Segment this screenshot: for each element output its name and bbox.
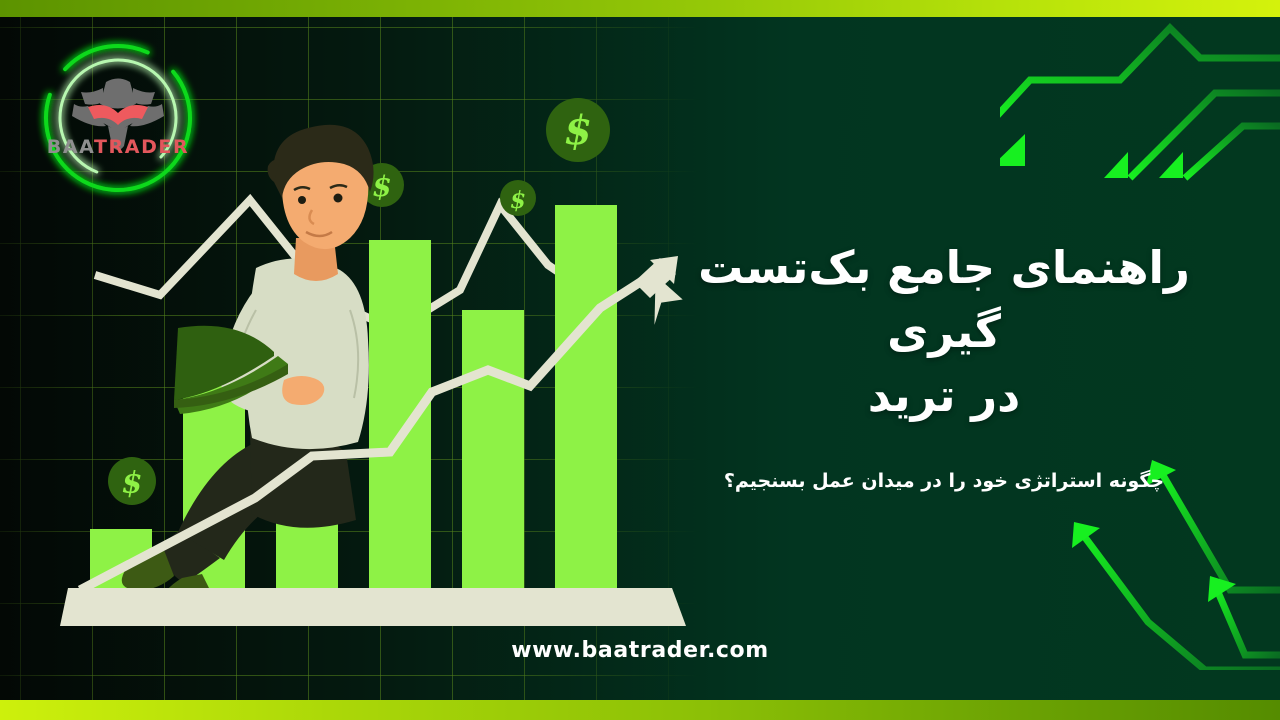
page-title: راهنمای جامع بک‌تست گیری در ترید [644, 236, 1244, 428]
headline-block: راهنمای جامع بک‌تست گیری در ترید چگونه ا… [644, 236, 1244, 496]
bottom-gradient-bar [0, 700, 1280, 720]
logo-word-trader: TRADER [94, 136, 189, 158]
chart-platform [60, 588, 686, 626]
bar-5 [462, 310, 524, 588]
bar-6 [555, 205, 617, 588]
top-gradient-bar [0, 0, 1280, 17]
logo-word-baa: BAA [47, 136, 94, 158]
page-subtitle: چگونه استراتژی خود را در میدان عمل بسنجی… [644, 466, 1244, 496]
svg-text:$: $ [564, 107, 592, 154]
banner-canvas: BAATRADER $ $ $ [0, 0, 1280, 720]
svg-text:$: $ [122, 466, 143, 501]
dollar-coin-large: $ [546, 98, 610, 162]
logo-ring-icon [18, 30, 218, 210]
headline-line-2: در ترید [868, 369, 1020, 422]
website-url[interactable]: www.baatrader.com [0, 638, 1280, 663]
svg-text:$: $ [510, 187, 526, 214]
logo[interactable]: BAATRADER [18, 30, 218, 210]
svg-text:$: $ [372, 170, 391, 203]
circuit-arrows-top-right [1000, 18, 1280, 228]
logo-wordmark: BAATRADER [18, 136, 218, 158]
headline-line-1: راهنمای جامع بک‌تست گیری [698, 241, 1190, 358]
dollar-coin-small: $ [500, 180, 536, 216]
dollar-coin-left: $ [108, 457, 156, 505]
